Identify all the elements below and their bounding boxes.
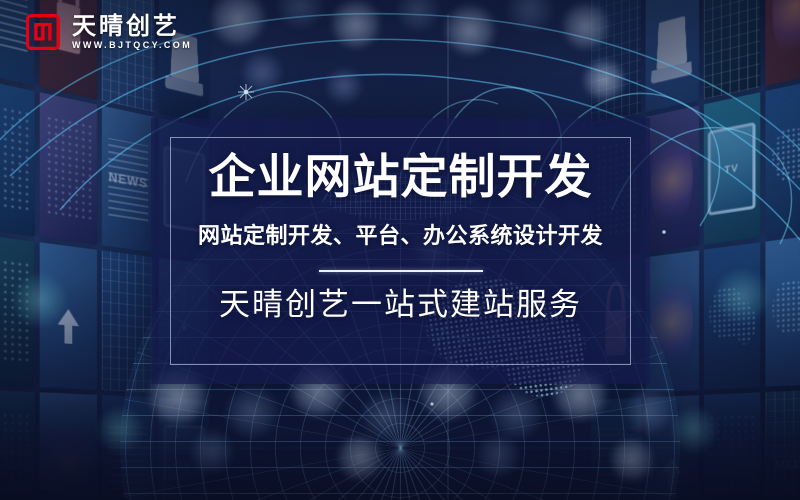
logo-company-name: 天晴创艺 <box>72 14 192 38</box>
panel-content: 企业网站定制开发 网站定制开发、平台、办公系统设计开发 天晴创艺一站式建站服务 <box>151 118 650 384</box>
headline-panel: 企业网站定制开发 网站定制开发、平台、办公系统设计开发 天晴创艺一站式建站服务 <box>151 118 650 384</box>
promo-banner: NEWSTV TVMEDIA <box>0 0 800 500</box>
page-title: 企业网站定制开发 <box>209 153 593 204</box>
tagline-text: 天晴创艺一站式建站服务 <box>219 288 582 324</box>
logo-text-block: 天晴创艺 WWW.BJTQCY.COM <box>72 14 192 50</box>
divider-rule <box>319 270 483 272</box>
tianqing-logo-mark <box>26 14 60 50</box>
subtitle-text: 网站定制开发、平台、办公系统设计开发 <box>198 224 603 250</box>
logo-website-url: WWW.BJTQCY.COM <box>72 41 192 50</box>
brand-logo[interactable]: 天晴创艺 WWW.BJTQCY.COM <box>26 14 192 50</box>
